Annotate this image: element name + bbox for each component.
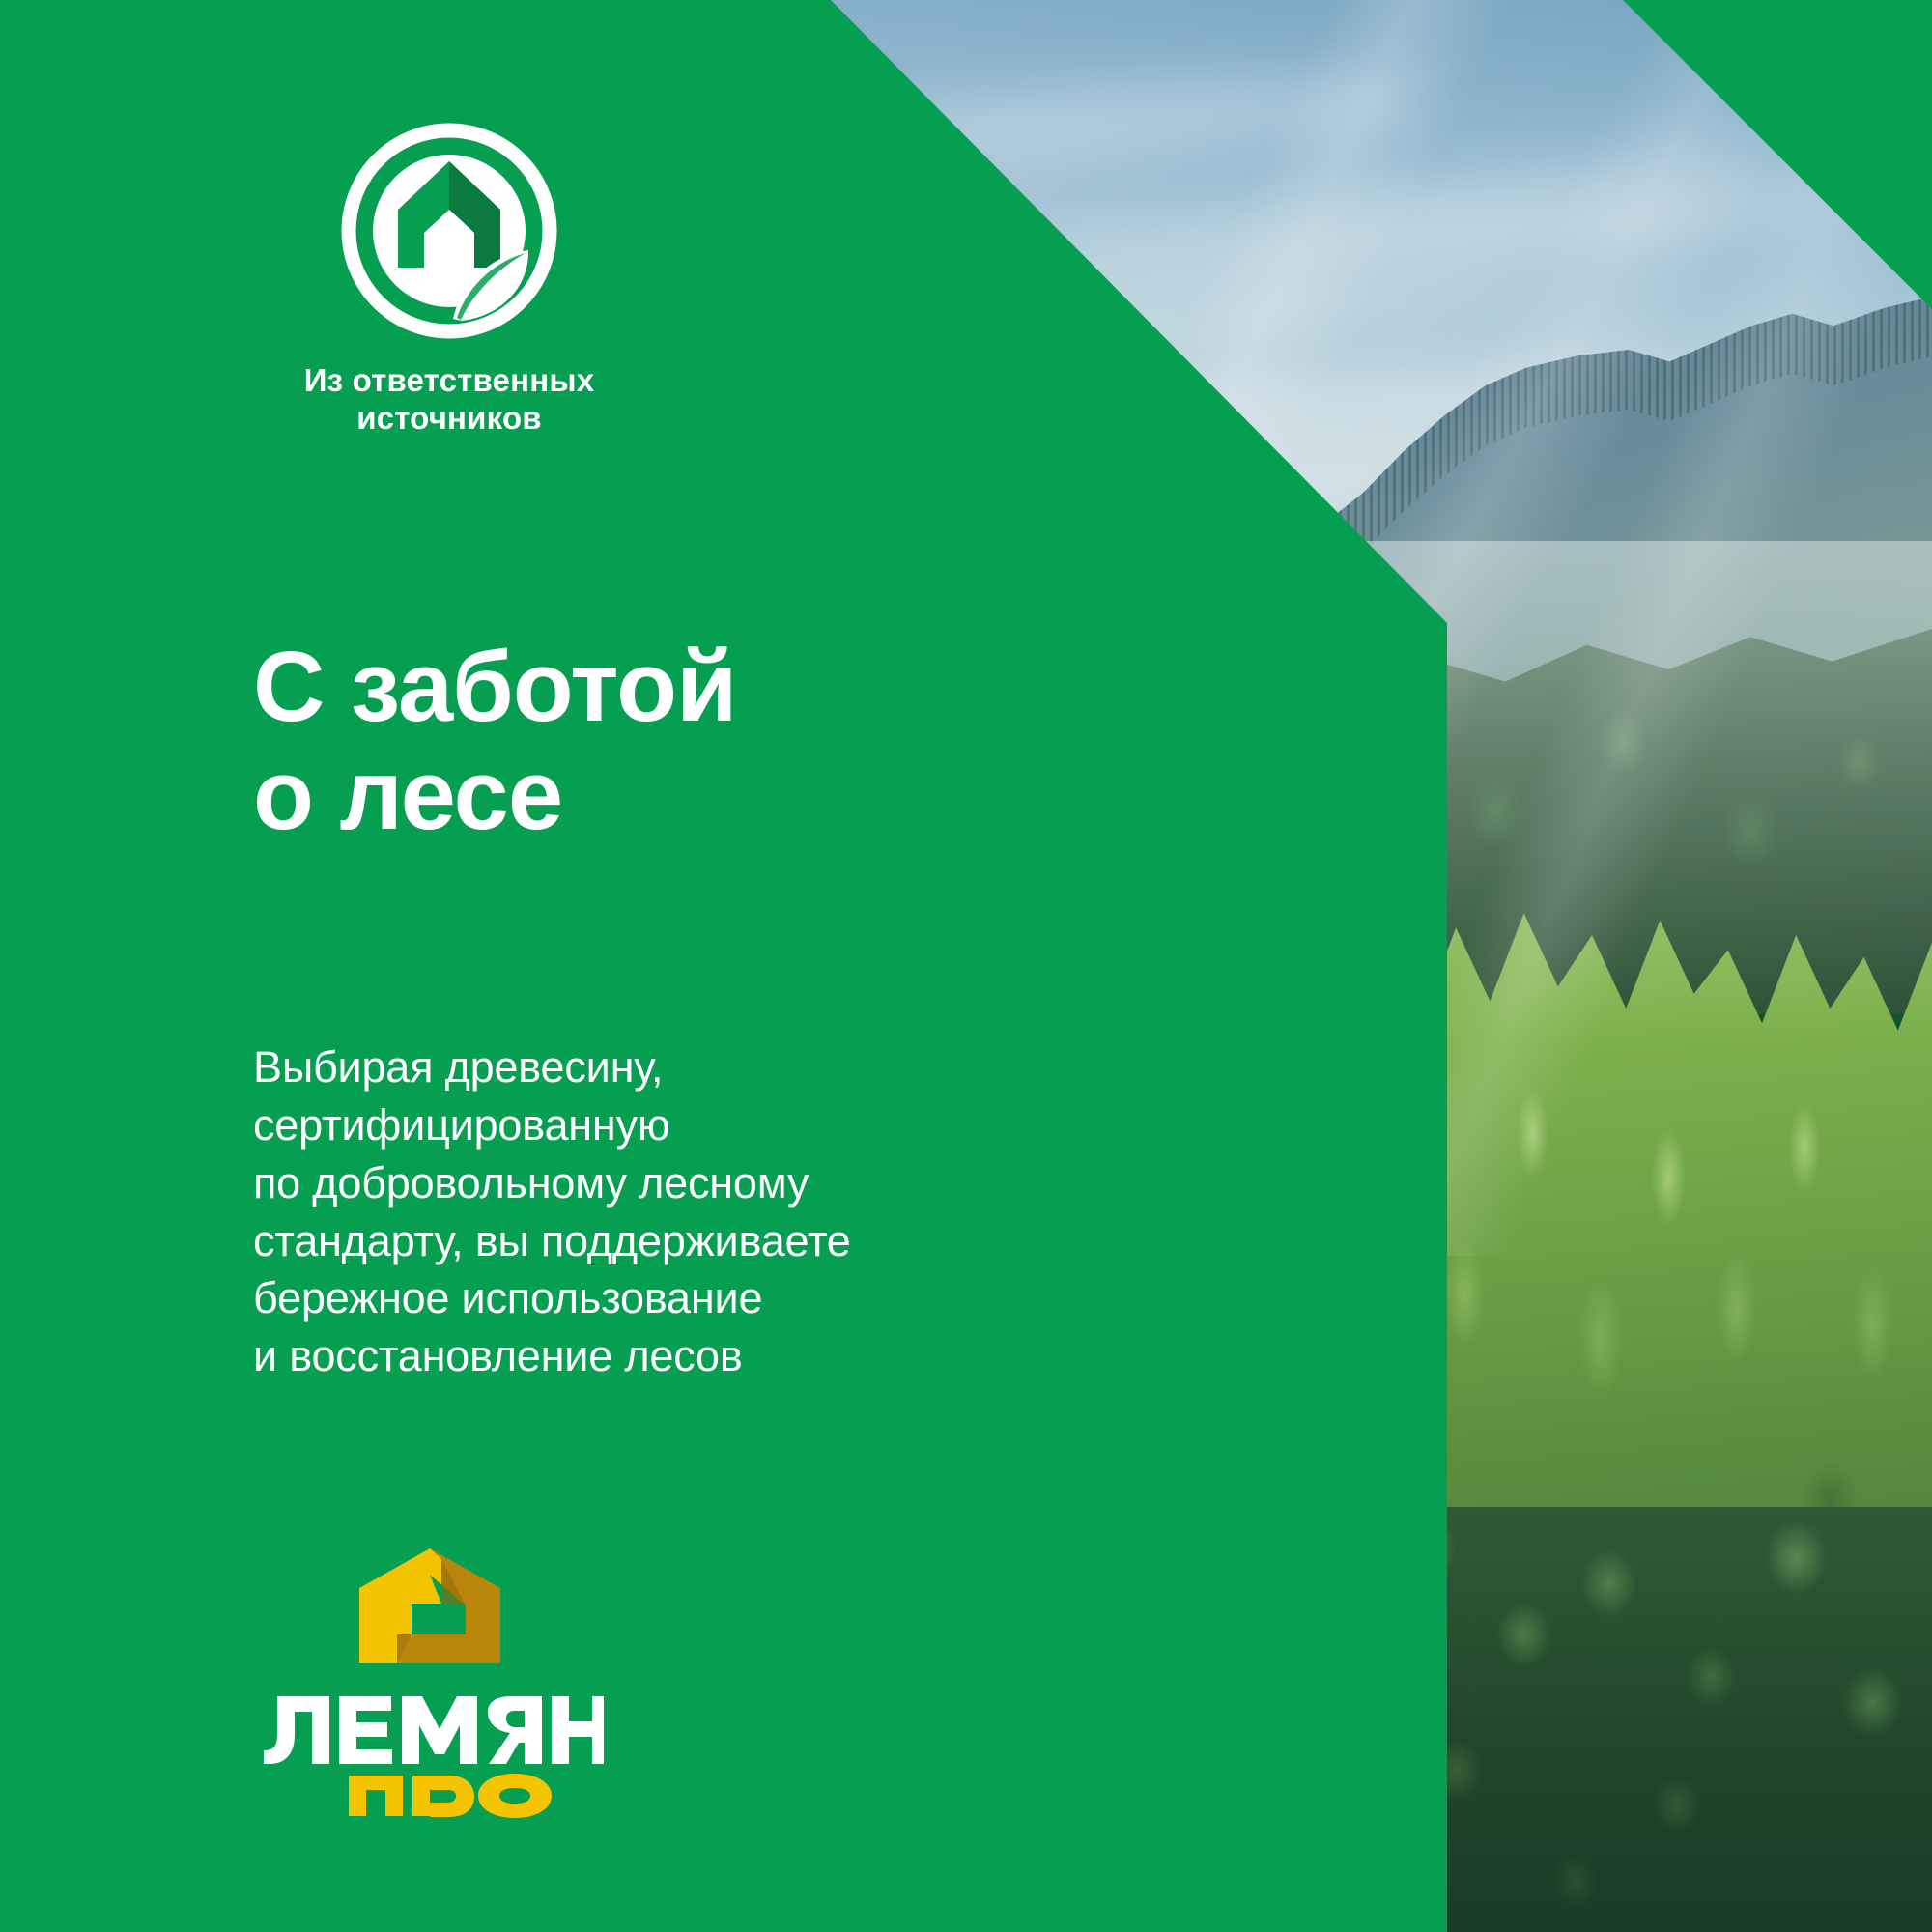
lemana-house-icon <box>342 1546 518 1673</box>
body-copy: Выбирая древесину, сертифицированную по … <box>253 1038 1065 1385</box>
eco-badge: Из ответственных источников <box>246 121 652 437</box>
brand-lockup: ЛЕМАНА ПРО <box>246 1546 613 1818</box>
poster: Из ответственных источников С заботой о … <box>0 0 1932 1932</box>
pro-word <box>349 1774 552 1818</box>
page-title: С заботой о лесе <box>253 633 736 850</box>
lemana-pro-wordmark <box>256 1690 604 1818</box>
eco-badge-caption: Из ответственных источников <box>246 362 652 437</box>
poster-content: Из ответственных источников С заботой о … <box>0 0 1447 1932</box>
lemana-word <box>264 1696 604 1764</box>
eco-house-leaf-circle-icon <box>339 121 559 341</box>
